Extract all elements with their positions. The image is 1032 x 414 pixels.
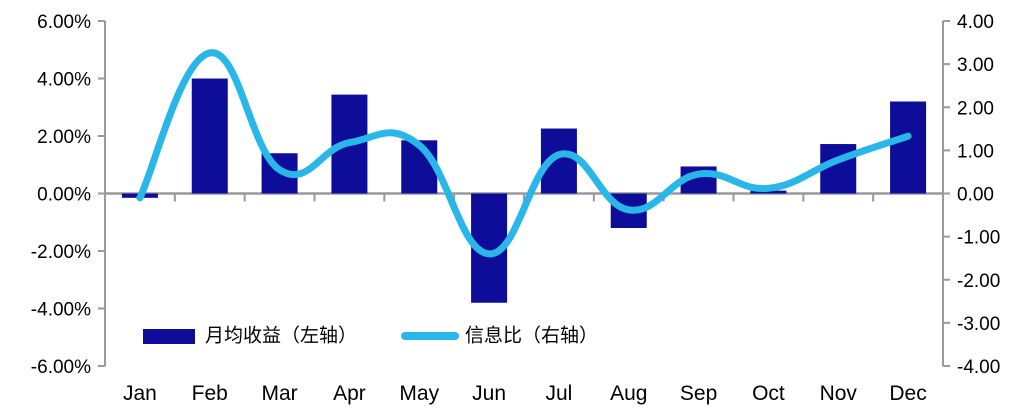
x-axis-label-sep: Sep	[680, 382, 717, 405]
x-axis-label-nov: Nov	[820, 382, 858, 405]
right-axis-tick-label: 1.00	[957, 141, 994, 162]
x-axis-label-dec: Dec	[889, 382, 926, 405]
right-axis-tick-label: 2.00	[957, 98, 994, 119]
bar-dec	[890, 102, 926, 194]
bar-feb	[192, 79, 228, 194]
x-axis-label-jul: Jul	[545, 382, 572, 405]
x-axis-label-may: May	[399, 382, 439, 405]
right-axis-tick-label: -4.00	[957, 357, 1000, 378]
right-axis-tick-label: -3.00	[957, 314, 1000, 335]
left-axis-tick-label: 2.00%	[37, 127, 91, 148]
x-axis-label-mar: Mar	[261, 382, 297, 405]
left-axis-tick-label: 4.00%	[37, 70, 91, 91]
chart-background	[0, 0, 1032, 414]
x-axis-label-oct: Oct	[752, 382, 785, 405]
left-axis-tick-label: -6.00%	[31, 357, 91, 378]
combo-chart: 6.00%4.00%2.00%0.00%-2.00%-4.00%-6.00% 4…	[0, 0, 1032, 414]
x-axis-label-jun: Jun	[472, 382, 506, 405]
right-axis-tick-label: -2.00	[957, 271, 1000, 292]
left-axis-tick-label: 6.00%	[37, 12, 91, 33]
x-axis-label-feb: Feb	[192, 382, 228, 405]
chart-container: 6.00%4.00%2.00%0.00%-2.00%-4.00%-6.00% 4…	[0, 0, 1032, 414]
legend-label-information-ratio: 信息比（右轴）	[465, 325, 598, 347]
x-axis-label-jan: Jan	[123, 382, 157, 405]
right-axis-tick-label: 4.00	[957, 12, 994, 33]
x-axis-label-apr: Apr	[333, 382, 366, 405]
legend-swatch-bar	[143, 329, 195, 344]
right-axis-tick-label: -1.00	[957, 228, 1000, 249]
legend-label-monthly-return: 月均收益（左轴）	[205, 325, 357, 347]
right-axis-tick-label: 3.00	[957, 55, 994, 76]
left-axis-tick-label: -4.00%	[31, 300, 91, 321]
left-axis-tick-label: -2.00%	[31, 242, 91, 263]
left-axis-tick-label: 0.00%	[37, 185, 91, 206]
right-axis-tick-label: 0.00	[957, 185, 994, 206]
x-axis-label-aug: Aug	[610, 382, 647, 405]
